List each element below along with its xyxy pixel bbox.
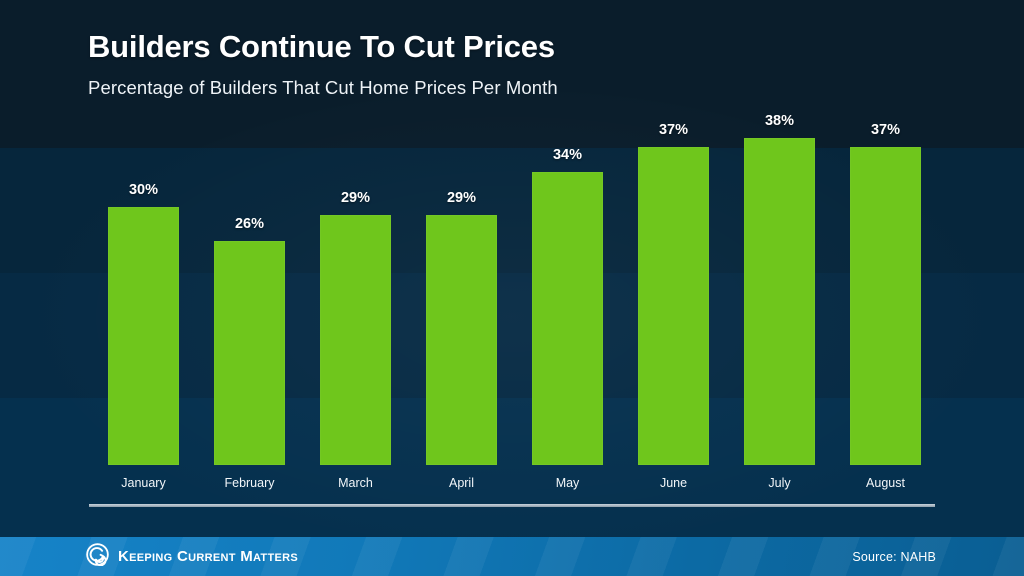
- bar-value-label: 29%: [412, 190, 511, 206]
- bar[interactable]: [744, 138, 815, 465]
- bar-value-label: 37%: [624, 122, 723, 138]
- bar[interactable]: [320, 215, 391, 465]
- bar[interactable]: [638, 147, 709, 465]
- x-axis-tick-label: March: [301, 476, 410, 490]
- source-attribution: Source: NAHB: [852, 537, 936, 576]
- x-axis-tick-label: June: [619, 476, 728, 490]
- x-axis-tick-label: April: [407, 476, 516, 490]
- bar-group[interactable]: 26%February: [214, 241, 285, 465]
- bar[interactable]: [108, 207, 179, 465]
- bar-value-label: 38%: [730, 113, 829, 129]
- bar-group[interactable]: 29%April: [426, 215, 497, 465]
- footer-bar: Keeping Current Matters Source: NAHB: [0, 537, 1024, 576]
- bar-group[interactable]: 29%March: [320, 215, 391, 465]
- bar-group[interactable]: 30%January: [108, 207, 179, 465]
- bar-value-label: 30%: [94, 182, 193, 198]
- bar[interactable]: [214, 241, 285, 465]
- brand-name: Keeping Current Matters: [118, 548, 298, 565]
- x-axis-line: [89, 504, 935, 507]
- brand-logo[interactable]: Keeping Current Matters: [86, 537, 298, 576]
- spiral-circle-icon: [86, 543, 109, 571]
- chart-canvas: Builders Continue To Cut Prices Percenta…: [0, 0, 1024, 576]
- x-axis-tick-label: July: [725, 476, 834, 490]
- x-axis-tick-label: May: [513, 476, 622, 490]
- bar-value-label: 34%: [518, 147, 617, 163]
- bar-group[interactable]: 37%August: [850, 147, 921, 465]
- bar[interactable]: [532, 172, 603, 465]
- bar-value-label: 37%: [836, 122, 935, 138]
- bar[interactable]: [426, 215, 497, 465]
- x-axis-tick-label: February: [195, 476, 304, 490]
- bar[interactable]: [850, 147, 921, 465]
- x-axis-tick-label: January: [89, 476, 198, 490]
- plot-area: 30%January26%February29%March29%April34%…: [0, 0, 1024, 537]
- x-axis-tick-label: August: [831, 476, 940, 490]
- bar-group[interactable]: 38%July: [744, 138, 815, 465]
- bar-value-label: 29%: [306, 190, 405, 206]
- bar-group[interactable]: 37%June: [638, 147, 709, 465]
- bar-value-label: 26%: [200, 216, 299, 232]
- bar-group[interactable]: 34%May: [532, 172, 603, 465]
